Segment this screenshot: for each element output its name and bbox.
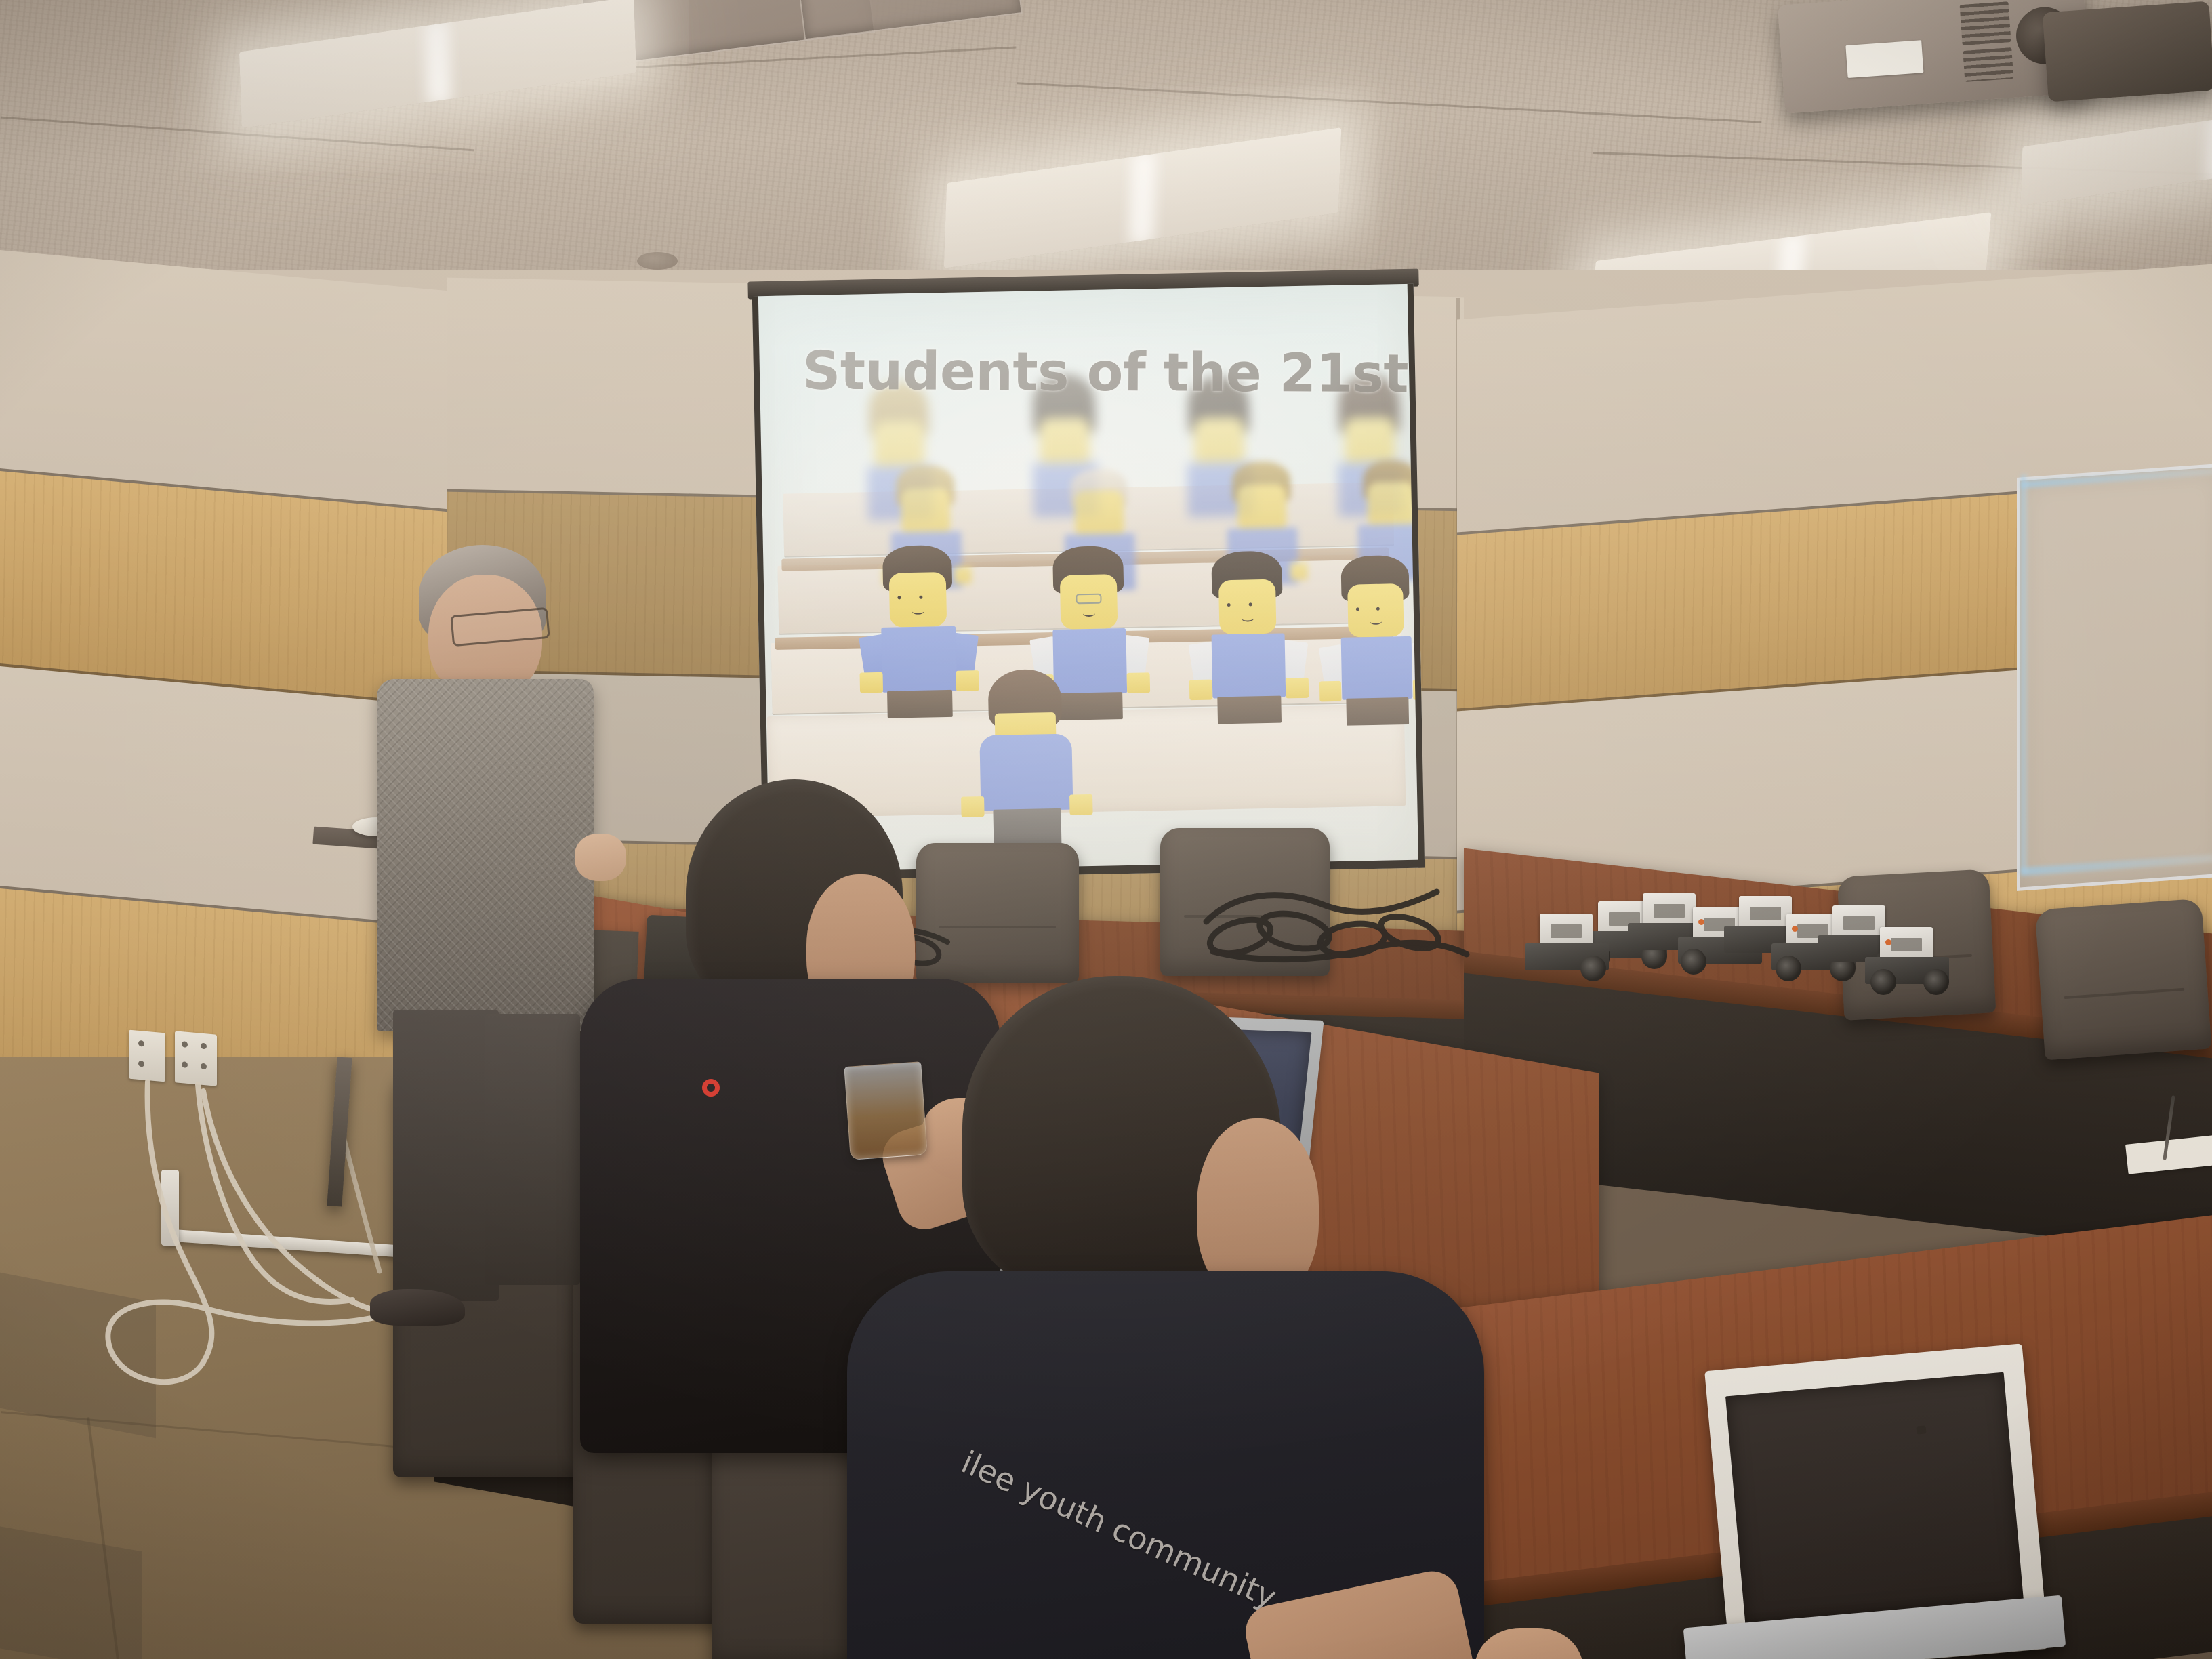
projection-screen: Students of the 21st Century (752, 284, 1425, 881)
outlet-hole (201, 1063, 207, 1070)
outlet-hole (182, 1061, 188, 1068)
robot-wheel (1776, 956, 1801, 981)
outlet-hole (138, 1040, 144, 1047)
projector-housing-rear (2043, 1, 2212, 102)
presenter-trousers (393, 1010, 499, 1301)
robot-screen (1891, 938, 1922, 951)
light-tube (436, 28, 439, 97)
robot-indicator (1698, 919, 1704, 925)
robot-wheel (1923, 969, 1949, 995)
room-photo: Students of the 21st Century (0, 0, 2212, 1659)
window-light-edge (2021, 474, 2028, 874)
wall-outlet[interactable] (129, 1030, 165, 1082)
robot-wheel (1681, 949, 1706, 975)
window-blind (2017, 463, 2212, 891)
cable-tangle (1193, 881, 1477, 976)
robot-screen (1551, 924, 1582, 938)
projector-vent (1960, 1, 2011, 45)
projector-label (1845, 40, 1923, 78)
webcam-icon (1917, 1425, 1927, 1434)
smoke-detector-icon (637, 252, 678, 270)
robot-indicator (1792, 926, 1798, 932)
screen-frame (752, 284, 1425, 881)
presenter-hand (575, 834, 626, 881)
outlet-hole (138, 1061, 144, 1067)
cable-duct (161, 1170, 179, 1246)
robot-wheel (1580, 956, 1606, 981)
light-tube (1141, 159, 1144, 237)
light-tube (436, 28, 439, 97)
chair-seam (2064, 988, 2184, 999)
robot-kit (1856, 927, 1957, 994)
projector-vent (1963, 47, 2013, 82)
laptop-screen (1725, 1372, 2024, 1625)
presenter-jacket (377, 679, 594, 1031)
wall-outlet[interactable] (175, 1031, 217, 1086)
robot-indicator (1885, 939, 1891, 945)
shirt-logo-icon (702, 1079, 720, 1097)
robot-wheel (1870, 969, 1896, 995)
chair[interactable] (2035, 899, 2212, 1061)
drinking-glass[interactable] (844, 1061, 927, 1160)
robot-kit (1515, 914, 1617, 980)
outlet-hole (182, 1041, 188, 1048)
outlet-hole (201, 1043, 207, 1050)
light-tube (1141, 159, 1144, 237)
presenter-trousers (485, 1014, 580, 1285)
